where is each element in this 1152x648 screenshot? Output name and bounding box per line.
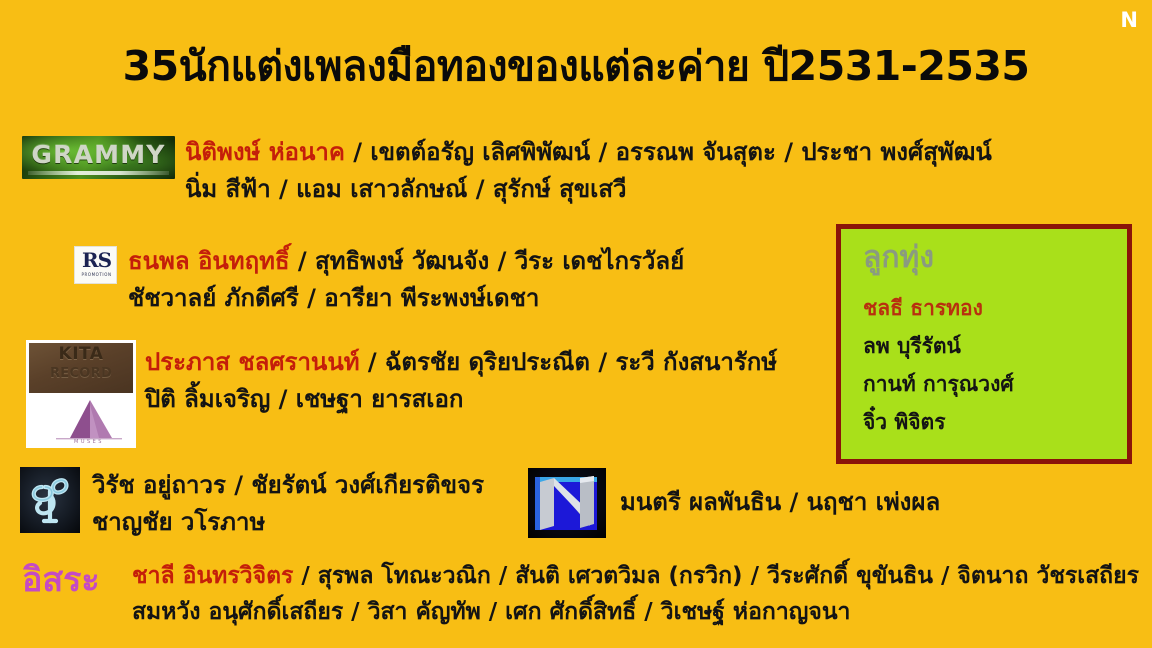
grammy-name-list: นิติพงษ์ ห่อนาค / เขตต์อรัญ เลิศพิพัฒน์ … — [185, 134, 992, 208]
shone-name-list: วิรัช อยู่ถาวร / ชัยรัตน์ วงศ์เกียรติขจร… — [92, 467, 484, 541]
name-line: ชัชวาลย์ ภักดีศรี / อารียา พีระพงษ์เดชา — [128, 280, 684, 317]
grammy-logo-bar — [28, 171, 169, 175]
rs-logo-text: RS — [75, 250, 117, 270]
label-row-grammy: นิติพงษ์ ห่อนาค / เขตต์อรัญ เลิศพิพัฒน์ … — [185, 134, 992, 208]
rs-name-list: ธนพล อินทฤทธิ์ / สุทธิพงษ์ วัฒนจัง / วีร… — [128, 243, 684, 317]
name-line: ประภาส ชลศรานนท์ / ฉัตรชัย ดุริยประณีต /… — [145, 344, 777, 381]
name-line: วิรัช อยู่ถาวร / ชัยรัตน์ วงศ์เกียรติขจร — [92, 467, 484, 504]
grammy-logo: GRAMMY — [22, 136, 175, 179]
label-row-shone: วิรัช อยู่ถาวร / ชัยรัตน์ วงศ์เกียรติขจร… — [92, 467, 484, 541]
list-item: ลพ บุรีรัตน์ — [863, 327, 1123, 365]
list-item: จิ๋ว พิจิตร — [863, 403, 1123, 441]
lukthung-header: ลูกทุ่ง — [863, 243, 934, 273]
name-line: สมหวัง อนุศักดิ์เสถียร / วิสา คัญทัพ / เ… — [132, 594, 1139, 630]
kita-record-logo: KITA RECORD MUSES — [26, 340, 136, 448]
kita-sub-label: MUSES — [46, 440, 132, 445]
isara-label: อิสระ — [22, 563, 100, 597]
label-row-rs: ธนพล อินทฤทธิ์ / สุทธิพงษ์ วัฒนจัง / วีร… — [128, 243, 684, 317]
name-line: ธนพล อินทฤทธิ์ / สุทธิพงษ์ วัฒนจัง / วีร… — [128, 243, 684, 280]
label-row-kita: ประภาส ชลศรานนท์ / ฉัตรชัย ดุริยประณีต /… — [145, 344, 777, 418]
n-letter-logo — [528, 468, 606, 538]
name-line: นิ่ม สีฟ้า / แอม เสาวลักษณ์ / สุรักษ์ สุ… — [185, 171, 992, 208]
lukthung-name-list: ชลธี ธารทอง ลพ บุรีรัตน์ กานท์ การุณวงศ์… — [863, 289, 1123, 441]
list-item: ชลธี ธารทอง — [863, 289, 1123, 327]
name-line: ปิติ ลิ้มเจริญ / เชษฐา ยารสเอก — [145, 381, 777, 418]
n-name-list: มนตรี ผลพันธิน / นฤชา เพ่งผล — [620, 484, 940, 521]
kita-logo-text-line1: KITA — [29, 345, 133, 364]
isara-name-list: ชาลี อินทรวิจิตร / สุรพล โทณะวณิก / สันต… — [132, 558, 1139, 630]
kita-banner: KITA RECORD — [29, 343, 133, 393]
watermark-n: N — [1120, 10, 1138, 31]
name-line: ชาญชัย วโรภาษ — [92, 504, 484, 541]
kita-logo-text-line2: RECORD — [29, 367, 133, 381]
rs-logo: RS PROMOTION — [74, 246, 117, 284]
page-title: 35นักแต่งเพลงมือทองของแต่ละค่าย ปี2531-2… — [0, 34, 1152, 99]
grammy-logo-text: GRAMMY — [26, 142, 171, 167]
name-line: นิติพงษ์ ห่อนาค / เขตต์อรัญ เลิศพิพัฒน์ … — [185, 134, 992, 171]
rs-logo-subtext: PROMOTION — [75, 273, 117, 277]
name-line: มนตรี ผลพันธิน / นฤชา เพ่งผล — [620, 484, 940, 521]
lukthung-box: ลูกทุ่ง ชลธี ธารทอง ลพ บุรีรัตน์ กานท์ ก… — [836, 224, 1132, 464]
pyramid-icon: MUSES — [46, 396, 132, 446]
kita-name-list: ประภาส ชลศรานนท์ / ฉัตรชัย ดุริยประณีต /… — [145, 344, 777, 418]
label-row-n: มนตรี ผลพันธิน / นฤชา เพ่งผล — [620, 484, 940, 521]
name-line: ชาลี อินทรวิจิตร / สุรพล โทณะวณิก / สันต… — [132, 558, 1139, 594]
list-item: กานท์ การุณวงศ์ — [863, 365, 1123, 403]
slide-canvas: N 35นักแต่งเพลงมือทองของแต่ละค่าย ปี2531… — [0, 0, 1152, 648]
shone-s-logo — [20, 467, 80, 533]
